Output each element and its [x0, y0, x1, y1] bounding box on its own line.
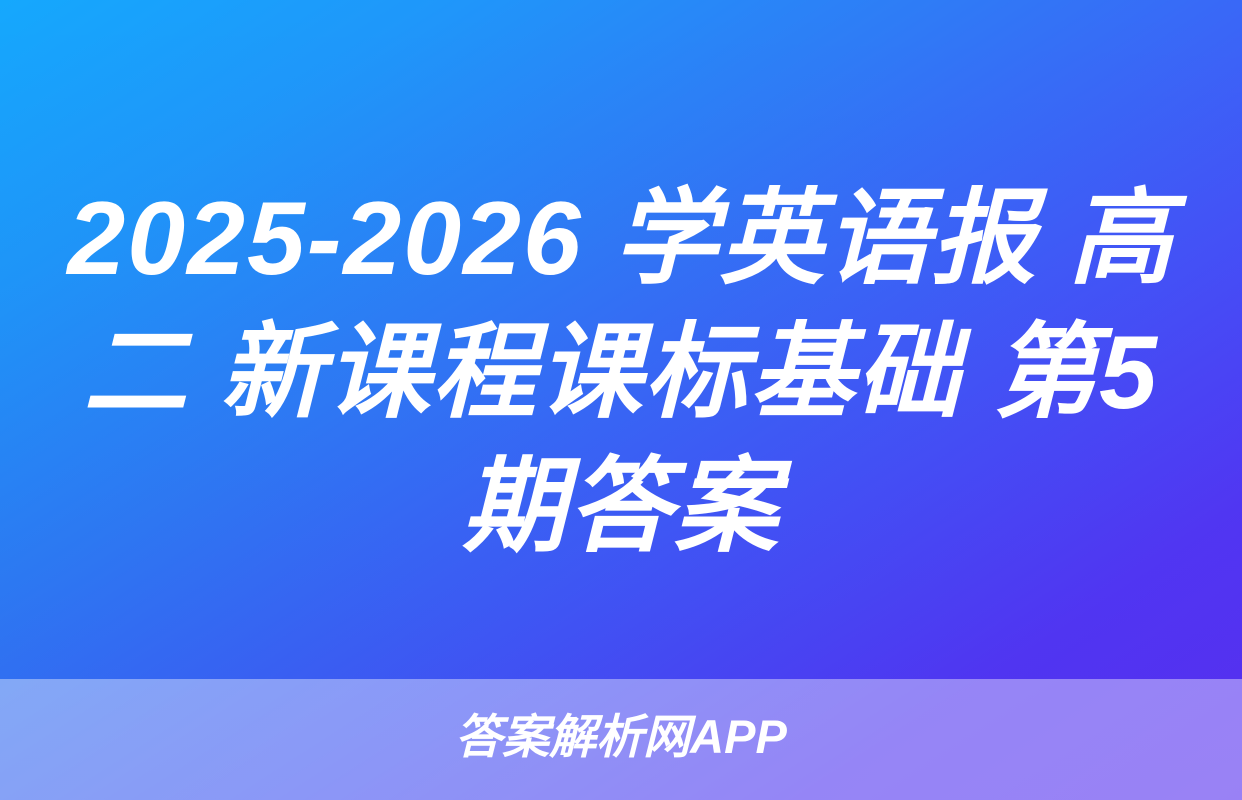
title-line-2: 二 新课程课标基础 第5: [56, 306, 1186, 440]
title-line-3: 期答案: [56, 440, 1186, 574]
watermark-bar: 答案解析网APP: [0, 679, 1242, 800]
poster-canvas: 2025-2026 学英语报 高 二 新课程课标基础 第5 期答案 答案解析网A…: [0, 0, 1242, 800]
title-line-1: 2025-2026 学英语报 高: [56, 172, 1186, 306]
page-title: 2025-2026 学英语报 高 二 新课程课标基础 第5 期答案: [0, 172, 1242, 574]
watermark-app-label: 答案解析网APP: [455, 713, 787, 760]
